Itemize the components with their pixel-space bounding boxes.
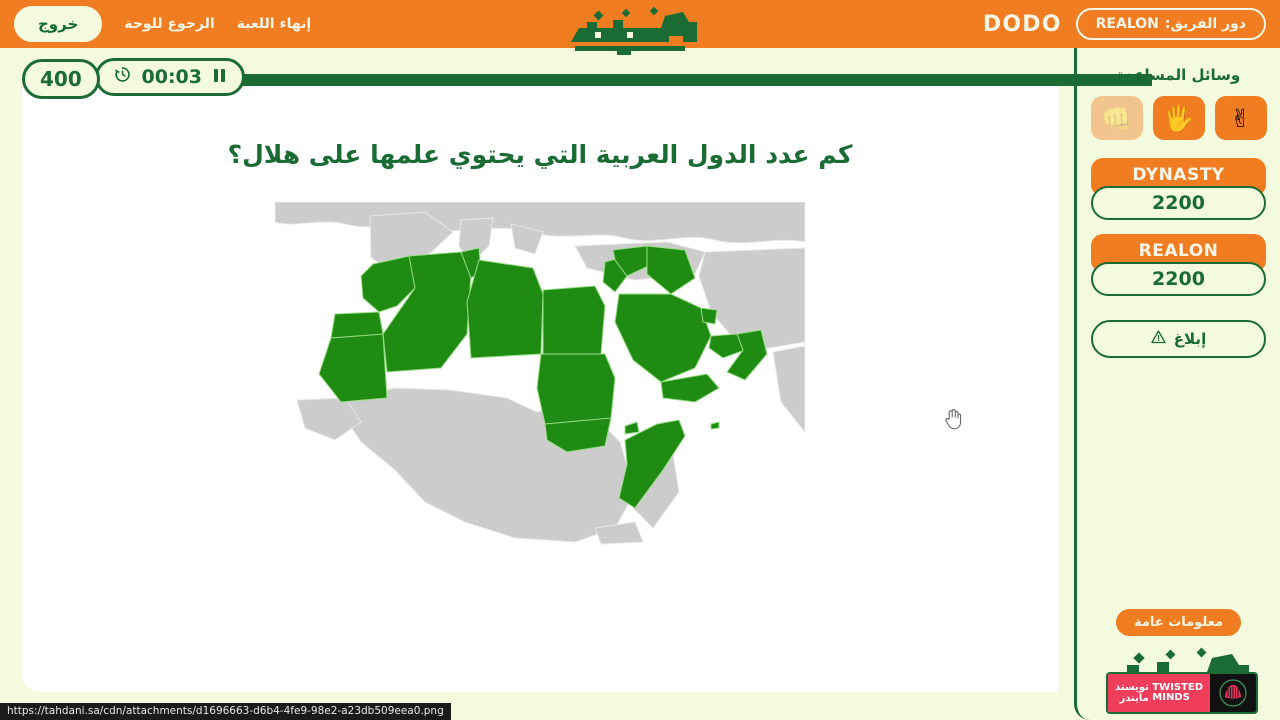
back-to-board-link[interactable]: الرجوع للوحة bbox=[124, 16, 214, 32]
quiz-game-screen: خروج الرجوع للوحة إنهاء اللعبة دور الفري… bbox=[0, 0, 1280, 720]
two-answers-lifeline-button[interactable]: ✌ bbox=[1215, 96, 1267, 140]
lifelines-group: ✌ 🖐 👊 bbox=[1077, 96, 1280, 140]
browser-status-url: https://tahdani.sa/cdn/attachments/d1696… bbox=[0, 703, 451, 720]
game-progress-strip: 00:03 400 bbox=[22, 58, 1258, 102]
report-button[interactable]: إبلاغ bbox=[1091, 320, 1266, 358]
team-card-realon: REALON 2200 bbox=[1091, 234, 1266, 296]
question-card: كم عدد الدول العربية التي يحتوي علمها عل… bbox=[22, 80, 1058, 692]
timer-value: 00:03 bbox=[142, 66, 202, 88]
call-friend-lifeline-button[interactable]: 🖐 bbox=[1153, 96, 1205, 140]
history-reset-icon[interactable] bbox=[114, 66, 131, 88]
sponsor-badge: TWISTED MINDS تويستد مايندز bbox=[1106, 672, 1258, 714]
question-points-badge: 400 bbox=[22, 59, 100, 99]
team-card-dynasty: DYNASTY 2200 bbox=[1091, 158, 1266, 220]
sponsor-text-group: TWISTED MINDS تويستد مايندز bbox=[1108, 674, 1210, 712]
sponsor-logo-icon bbox=[1210, 674, 1256, 712]
question-media-map[interactable] bbox=[275, 202, 805, 547]
user-name-label: DODO bbox=[983, 12, 1062, 37]
exit-button[interactable]: خروج bbox=[14, 6, 102, 42]
sponsor-name-ar-line1: تويستد bbox=[1115, 682, 1149, 693]
pause-icon[interactable] bbox=[213, 66, 226, 88]
end-game-link[interactable]: إنهاء اللعبة bbox=[237, 16, 311, 32]
double-points-lifeline-button[interactable]: 👊 bbox=[1091, 96, 1143, 140]
sponsor-name-en: TWISTED MINDS bbox=[1152, 683, 1203, 704]
progress-bar bbox=[142, 74, 1152, 86]
main-content-area: كم عدد الدول العربية التي يحتوي علمها عل… bbox=[22, 48, 1258, 720]
tahdani-logo-header bbox=[565, 2, 715, 64]
current-turn-badge: دور الفريق: REALON bbox=[1076, 8, 1266, 40]
arab-world-map-image bbox=[275, 202, 805, 547]
topbar-right-group: دور الفريق: REALON DODO bbox=[983, 0, 1266, 48]
report-label: إبلاغ bbox=[1174, 330, 1206, 348]
fist-bump-icon: 👊 bbox=[1101, 106, 1132, 131]
question-text: كم عدد الدول العربية التي يحتوي علمها عل… bbox=[22, 140, 1058, 169]
warning-triangle-icon bbox=[1151, 330, 1166, 348]
help-sidebar: وسائل المساعدة ✌ 🖐 👊 DYNASTY 2200 REALON… bbox=[1074, 48, 1280, 720]
sponsor-name-ar-line2: مايندز bbox=[1115, 693, 1149, 704]
timer-control[interactable]: 00:03 bbox=[95, 58, 245, 96]
current-turn-team: REALON bbox=[1096, 16, 1159, 32]
current-turn-label: دور الفريق: bbox=[1165, 16, 1246, 32]
team-score-dynasty[interactable]: 2200 bbox=[1091, 186, 1266, 220]
victory-hand-icon: ✌ bbox=[1230, 106, 1251, 131]
topbar-left-group: خروج الرجوع للوحة إنهاء اللعبة bbox=[14, 0, 311, 48]
question-category-badge: معلومات عامة bbox=[1116, 609, 1241, 636]
team-score-realon[interactable]: 2200 bbox=[1091, 262, 1266, 296]
sponsor-name-en-line2: MINDS bbox=[1152, 693, 1203, 704]
raised-hand-icon: 🖐 bbox=[1163, 106, 1194, 131]
sponsor-name-ar: تويستد مايندز bbox=[1115, 682, 1149, 704]
